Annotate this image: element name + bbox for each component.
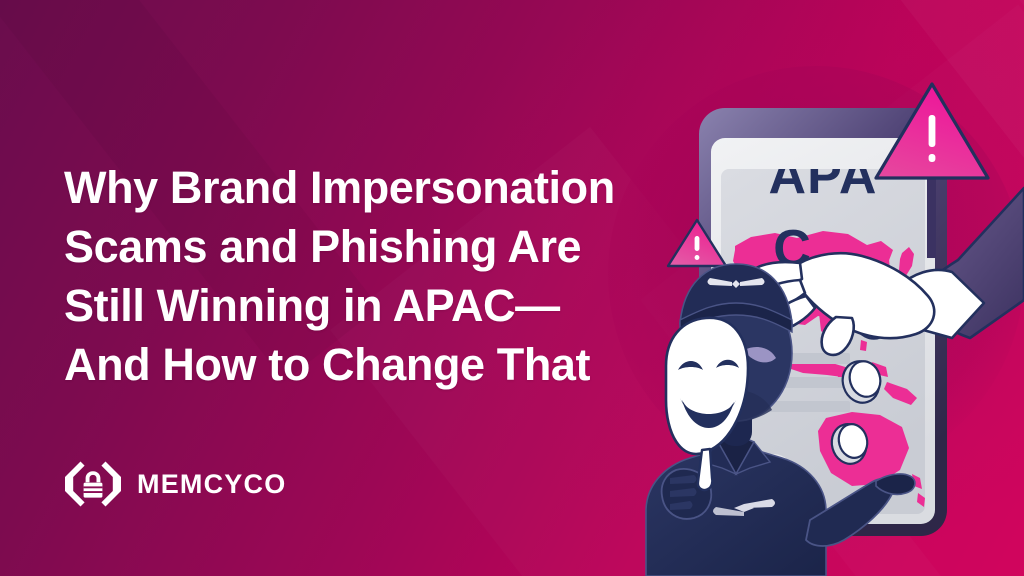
memcyco-wordmark: MEMCYCO [137,469,286,500]
headline-line-1: Why Brand Impersonation [64,158,704,217]
apac-brand-impersonation-illustration: APA C [640,70,1024,576]
page-title: Why Brand Impersonation Scams and Phishi… [64,158,704,394]
headline-line-4: And How to Change That [64,335,704,394]
memcyco-logo[interactable]: MEMCYCO [64,458,286,510]
headline-line-2: Scams and Phishing Are [64,217,704,276]
padlock-in-angle-brackets-icon [64,458,122,510]
blog-hero-banner: Why Brand Impersonation Scams and Phishi… [0,0,1024,576]
headline-line-3: Still Winning in APAC— [64,276,704,335]
